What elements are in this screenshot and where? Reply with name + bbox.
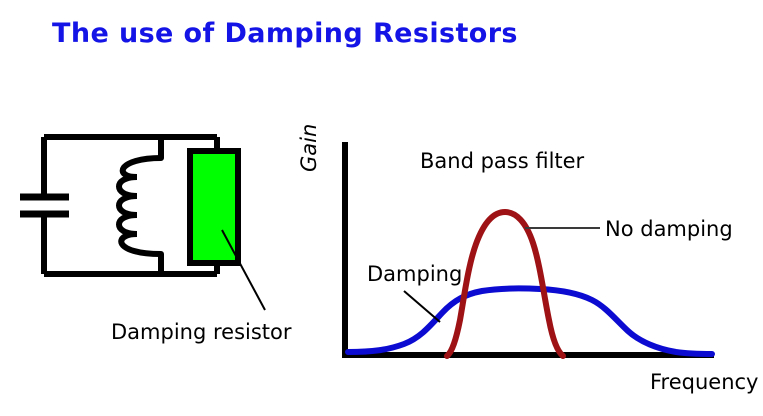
bandpass-filter-chart (0, 0, 763, 416)
series-no-damping-curve (447, 212, 563, 356)
inductor-windings (119, 158, 161, 254)
circuit-diagram (0, 0, 763, 416)
chart-title: Band pass filter (420, 149, 584, 173)
capacitor-symbol (20, 197, 69, 214)
damping-leader (404, 291, 440, 322)
series-damping-curve (348, 288, 712, 354)
inductor-coil-symbol (119, 158, 161, 254)
series-label-damping: Damping (367, 262, 462, 286)
series-label-no-damping: No damping (605, 217, 733, 241)
x-axis-label: Frequency (650, 370, 759, 394)
resistor-callout-leader (222, 230, 265, 310)
y-axis-label: Gain (297, 124, 321, 172)
resistor-block (190, 151, 238, 263)
circuit-wires (44, 137, 217, 274)
damping-resistor-caption: Damping resistor (111, 320, 292, 344)
page-title: The use of Damping Resistors (52, 18, 518, 49)
slide-canvas: The use of Damping Resistors (0, 0, 763, 416)
chart-axes (342, 142, 714, 355)
resistor-body (190, 151, 238, 263)
